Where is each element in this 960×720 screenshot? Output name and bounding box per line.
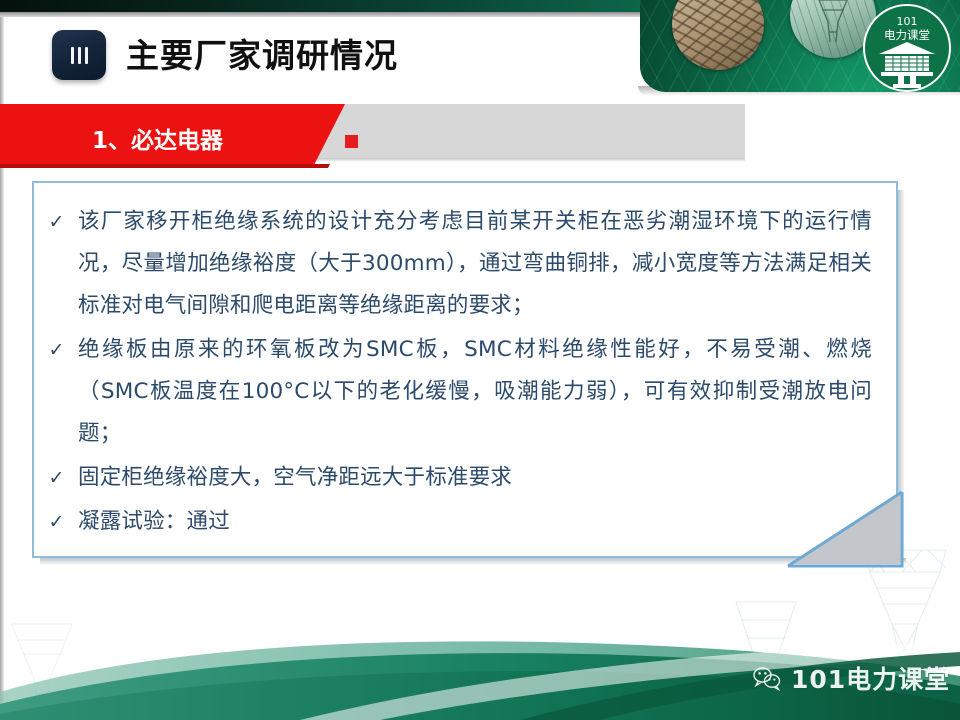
brand-watermark-label: 101电力课堂 — [791, 660, 950, 696]
slide-canvas: 101 电力课堂 主要厂家调研情况 1、必达电器 — [0, 0, 960, 720]
bottom-green-waves — [0, 580, 960, 720]
check-icon: ✓ — [48, 457, 65, 499]
pylon-icon — [809, 0, 857, 44]
brand-watermark: 101电力课堂 — [752, 660, 950, 696]
list-item: ✓ 绝缘板由原来的环氧板改为SMC板，SMC材料绝缘性能好，不易受潮、燃烧（SM… — [48, 329, 872, 455]
svg-text:电力课堂: 电力课堂 — [884, 28, 930, 42]
brand-emblem-logo: 101 电力课堂 — [863, 4, 951, 92]
section-label: 1、必达电器 — [92, 121, 223, 155]
roman-numeral-three-icon — [52, 30, 106, 80]
content-box-shadow-bottom — [40, 558, 906, 565]
red-square-marker-icon — [345, 135, 358, 148]
svg-text:101: 101 — [897, 15, 918, 28]
list-item: ✓ 凝露试验：通过 — [48, 501, 872, 543]
emblem-building-icon: 101 电力课堂 — [865, 6, 949, 90]
section-red-banner-edge — [0, 164, 330, 168]
list-item-text: 绝缘板由原来的环氧板改为SMC板，SMC材料绝缘性能好，不易受潮、燃烧（SMC板… — [78, 329, 872, 455]
wechat-icon — [752, 666, 782, 691]
check-icon: ✓ — [48, 201, 65, 243]
list-item-text: 固定柜绝缘裕度大，空气净距远大于标准要求 — [78, 457, 872, 499]
transmission-tower-watermark-secondary-icon — [0, 614, 90, 720]
list-item-text: 该厂家移开柜绝缘系统的设计充分考虑目前某开关柜在恶劣潮湿环境下的运行情况，尽量增… — [78, 201, 872, 327]
list-item: ✓ 该厂家移开柜绝缘系统的设计充分考虑目前某开关柜在恶劣潮湿环境下的运行情况，尽… — [48, 201, 872, 327]
page-title: 主要厂家调研情况 — [126, 29, 398, 77]
check-icon: ✓ — [48, 329, 65, 371]
bullet-list: ✓ 该厂家移开柜绝缘系统的设计充分考虑目前某开关柜在恶劣潮湿环境下的运行情况，尽… — [32, 181, 898, 558]
transmission-tower-watermark-tertiary-icon — [706, 598, 826, 720]
list-item-text: 凝露试验：通过 — [78, 501, 872, 543]
check-icon: ✓ — [48, 501, 65, 543]
list-item: ✓ 固定柜绝缘裕度大，空气净距远大于标准要求 — [48, 457, 872, 499]
